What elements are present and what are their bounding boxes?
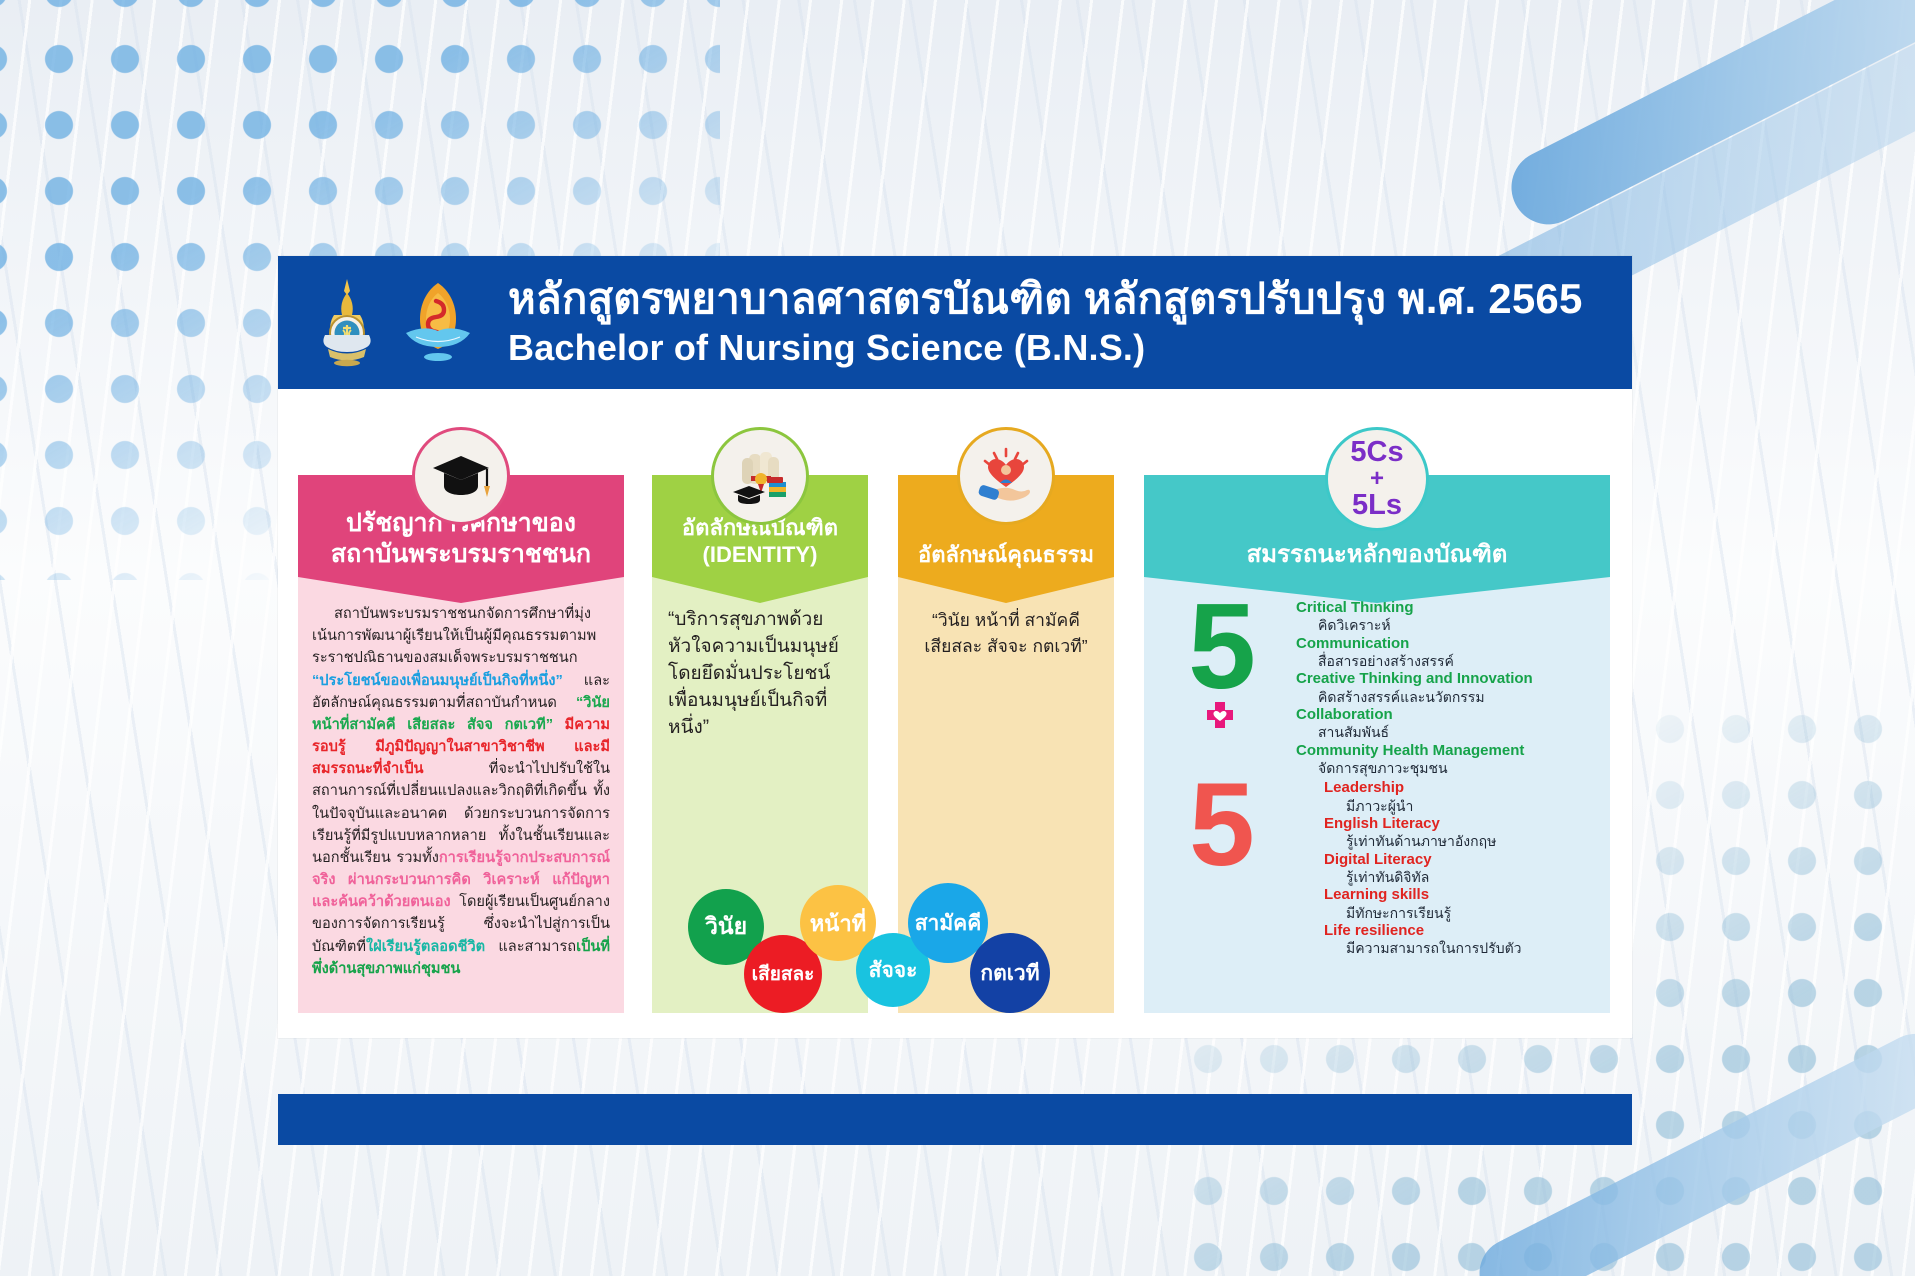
philosophy-segment-9: ใฝ่เรียนรู้ตลอดชีวิต [366, 939, 485, 955]
header-title-thai: หลักสูตรพยาบาลศาสตรบัณฑิต หลักสูตรปรับปร… [508, 276, 1583, 321]
competency-5ls-item-3-th: มีทักษะการเรียนรู้ [1324, 905, 1600, 922]
hand-holding-heart-icon [957, 427, 1055, 525]
virtue-bubble-5: กตเวที [970, 933, 1050, 1013]
competency-5ls-item-0-th: มีภาวะผู้นำ [1324, 798, 1600, 815]
competency-5cs-item-2-en: Creative Thinking and Innovation [1296, 670, 1600, 688]
competency-5ls-item-3-en: Learning skills [1324, 886, 1600, 904]
competency-5ls-item-1-th: รู้เท่าทันด้านภาษาอังกฤษ [1324, 833, 1600, 850]
5cs-5ls-badge-icon: 5Cs + 5Ls [1325, 427, 1429, 531]
card-core-competencies: 5Cs + 5Ls สมรรถนะหลักของบัณฑิต 5 [1144, 475, 1610, 1013]
card3-title: อัตลักษณ์คุณธรรม [918, 542, 1094, 569]
competency-5cs-item-2-th: คิดสร้างสรรค์และนวัตกรรม [1296, 689, 1600, 706]
competency-5ls-item-2-en: Digital Literacy [1324, 851, 1600, 869]
poster-header: หลักสูตรพยาบาลศาสตรบัณฑิต หลักสูตรปรับปร… [278, 256, 1632, 389]
poster-background: หลักสูตรพยาบาลศาสตรบัณฑิต หลักสูตรปรับปร… [0, 0, 1915, 1276]
competency-5cs-item-4-en: Community Health Management [1296, 742, 1600, 760]
praboromarajchanok-flame-icon [396, 277, 480, 369]
5ls-number-column: 5 [1144, 779, 1296, 871]
competency-5cs-item-0-en: Critical Thinking [1296, 599, 1600, 617]
card1-title-line2: สถาบันพระบรมราชชนก [331, 539, 591, 570]
competency-5ls-item-4-th: มีความสามารถในการปรับตัว [1324, 940, 1600, 957]
badge-plus: + [1370, 467, 1384, 491]
competency-5cs-item-4-th: จัดการสุขภาวะชุมชน [1296, 760, 1600, 777]
big-number-5ls: 5 [1189, 779, 1251, 871]
moral-identity-quote: “วินัย หน้าที่ สามัคคี เสียสละ สัจจะ กตเ… [910, 607, 1102, 660]
header-text-block: หลักสูตรพยาบาลศาสตรบัณฑิต หลักสูตรปรับปร… [508, 276, 1583, 369]
competency-5ls-item-4-en: Life resilience [1324, 922, 1600, 940]
card4-body: 5 Critical Thinkingคิดวิเคราะห์Communica… [1144, 577, 1610, 1013]
card3-title-line1: อัตลักษณ์คุณธรรม [918, 542, 1094, 569]
card2-title-line2: (IDENTITY) [682, 542, 838, 569]
badge-5ls: 5Ls [1352, 491, 1402, 520]
royal-thai-crest-icon [312, 277, 382, 369]
card4-title-line1: สมรรถนะหลักของบัณฑิต [1247, 540, 1508, 569]
graduation-cap-icon [412, 427, 510, 525]
philosophy-segment-4 [553, 717, 565, 733]
competency-5ls-item-1-en: English Literacy [1324, 815, 1600, 833]
competency-group-5ls: 5 Leadershipมีภาวะผู้นำEnglish Literacyร… [1144, 779, 1610, 957]
competency-5cs-item-3-en: Collaboration [1296, 706, 1600, 724]
poster-body: ปรัชญาการศึกษาของ สถาบันพระบรมราชชนก สถา… [278, 389, 1632, 967]
big-number-5cs: 5 [1188, 599, 1252, 694]
competency-5cs-item-1-en: Communication [1296, 635, 1600, 653]
badge-5cs: 5Cs [1350, 438, 1403, 467]
competency-5cs-item-3-th: สานสัมพันธ์ [1296, 724, 1600, 741]
competency-5cs-item-1-th: สื่อสารอย่างสร้างสรรค์ [1296, 653, 1600, 670]
poster-footer-bar [278, 1094, 1632, 1145]
competency-5cs-item-0-th: คิดวิเคราะห์ [1296, 617, 1600, 634]
competency-list-5cs: Critical Thinkingคิดวิเคราะห์Communicati… [1296, 599, 1610, 777]
competency-list-5ls: Leadershipมีภาวะผู้นำEnglish Literacyรู้… [1296, 779, 1610, 957]
diploma-scrolls-books-icon [711, 427, 809, 525]
philosophy-segment-1: “ประโยชน์ของเพื่อนมนุษย์เป็นกิจที่หนึ่ง” [312, 673, 563, 689]
card-education-philosophy: ปรัชญาการศึกษาของ สถาบันพระบรมราชชนก สถา… [298, 475, 624, 1013]
competency-group-5cs: 5 Critical Thinkingคิดวิเคราะห์Communica… [1144, 599, 1610, 777]
moral-quote-line2: เสียสละ สัจจะ กตเวที” [910, 633, 1102, 659]
medical-cross-heart-icon [1203, 700, 1237, 734]
philosophy-segment-10: และสามารถ [485, 939, 576, 955]
card1-body: สถาบันพระบรมราชชนกจัดการศึกษาที่มุ่งเน้น… [298, 577, 624, 1013]
moral-quote-line1: “วินัย หน้าที่ สามัคคี [910, 607, 1102, 633]
philosophy-segment-0: สถาบันพระบรมราชชนกจัดการศึกษาที่มุ่งเน้น… [312, 606, 596, 666]
graduate-identity-quote: “บริการสุขภาพด้วยหัวใจความเป็นมนุษย์ โดย… [668, 607, 852, 742]
5cs-number-column: 5 [1144, 599, 1296, 734]
card4-title: สมรรถนะหลักของบัณฑิต [1247, 540, 1508, 569]
header-title-english: Bachelor of Nursing Science (B.N.S.) [508, 326, 1583, 369]
poster-panel: หลักสูตรพยาบาลศาสตรบัณฑิต หลักสูตรปรับปร… [278, 256, 1632, 1038]
education-philosophy-paragraph: สถาบันพระบรมราชชนกจัดการศึกษาที่มุ่งเน้น… [312, 603, 610, 980]
competency-5ls-item-2-th: รู้เท่าทันดิจิทัล [1324, 869, 1600, 886]
competency-5ls-item-0-en: Leadership [1324, 779, 1600, 797]
